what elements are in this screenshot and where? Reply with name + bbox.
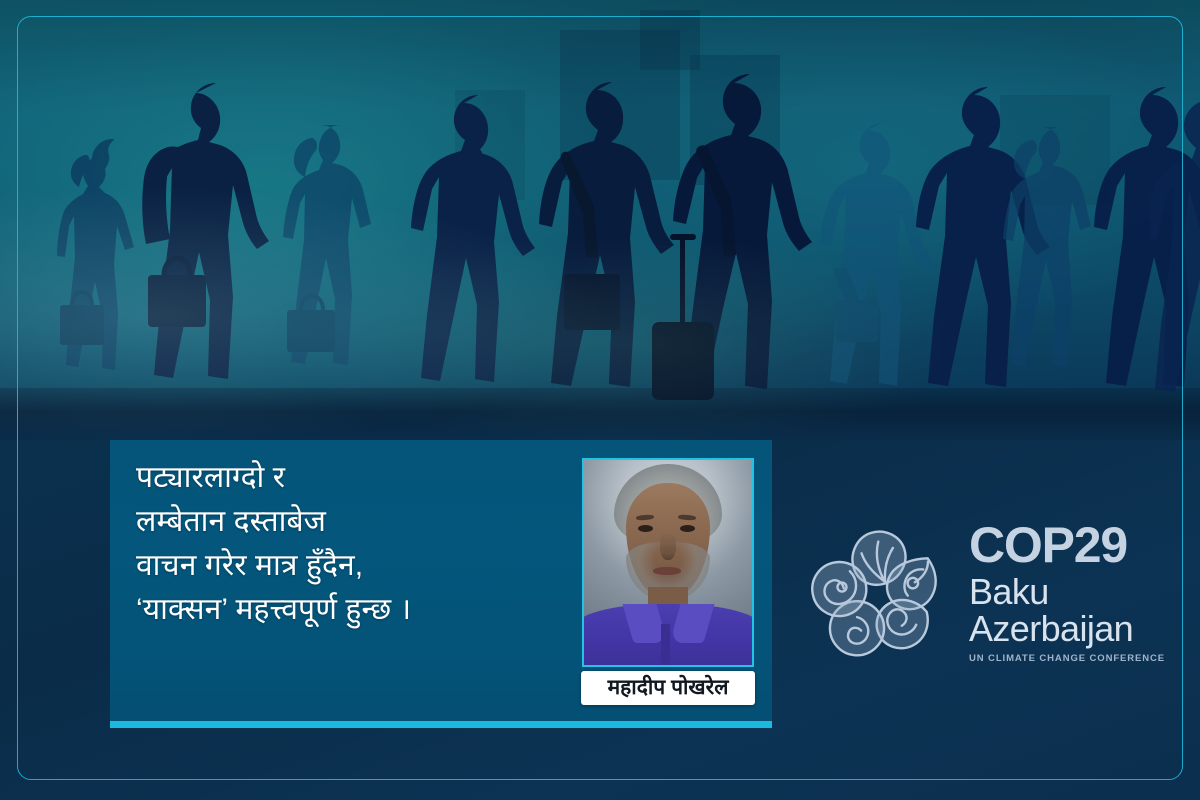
author-photo: [582, 458, 754, 667]
cop29-logo: COP29 Baku Azerbaijan UN CLIMATE CHANGE …: [805, 515, 1175, 675]
cop29-title: COP29: [969, 521, 1165, 570]
headline-line-1: पट्यारलाग्दो र: [136, 456, 576, 500]
author-portrait-image: [584, 460, 752, 665]
cop29-city: Baku: [969, 573, 1165, 610]
portrait-eye-left: [638, 525, 653, 532]
headline-line-2: लम्बेतान दस्ताबेज: [136, 500, 576, 544]
hero-image: [0, 0, 1200, 440]
author-name: महादीप पोखरेल: [608, 676, 729, 699]
portrait-nose: [660, 532, 675, 561]
skyline-block: [640, 10, 700, 70]
author-name-badge: महादीप पोखरेल: [581, 671, 755, 705]
portrait-placket: [661, 624, 669, 665]
cop29-tagline: UN CLIMATE CHANGE CONFERENCE: [969, 653, 1165, 664]
headline-text: पट्यारलाग्दो र लम्बेतान दस्ताबेज वाचन गर…: [136, 456, 576, 632]
headline-line-4: ‘याक्सन’ महत्त्वपूर्ण हुन्छ ।: [136, 588, 576, 632]
quote-panel: पट्यारलाग्दो र लम्बेतान दस्ताबेज वाचन गर…: [110, 440, 772, 721]
cop29-wordmark: COP29 Baku Azerbaijan UN CLIMATE CHANGE …: [969, 515, 1165, 664]
portrait-mouth: [653, 567, 682, 575]
panel-accent-bar: [110, 721, 772, 728]
cop29-buta-emblem-icon: [805, 515, 955, 665]
opinion-card: पट्यारलाग्दो र लम्बेतान दस्ताबेज वाचन गर…: [0, 0, 1200, 800]
silhouette-figure: [1150, 96, 1200, 426]
headline-line-3: वाचन गरेर मात्र हुँदैन,: [136, 544, 576, 588]
cop29-country: Azerbaijan: [969, 610, 1165, 647]
portrait-eye-right: [680, 525, 695, 532]
